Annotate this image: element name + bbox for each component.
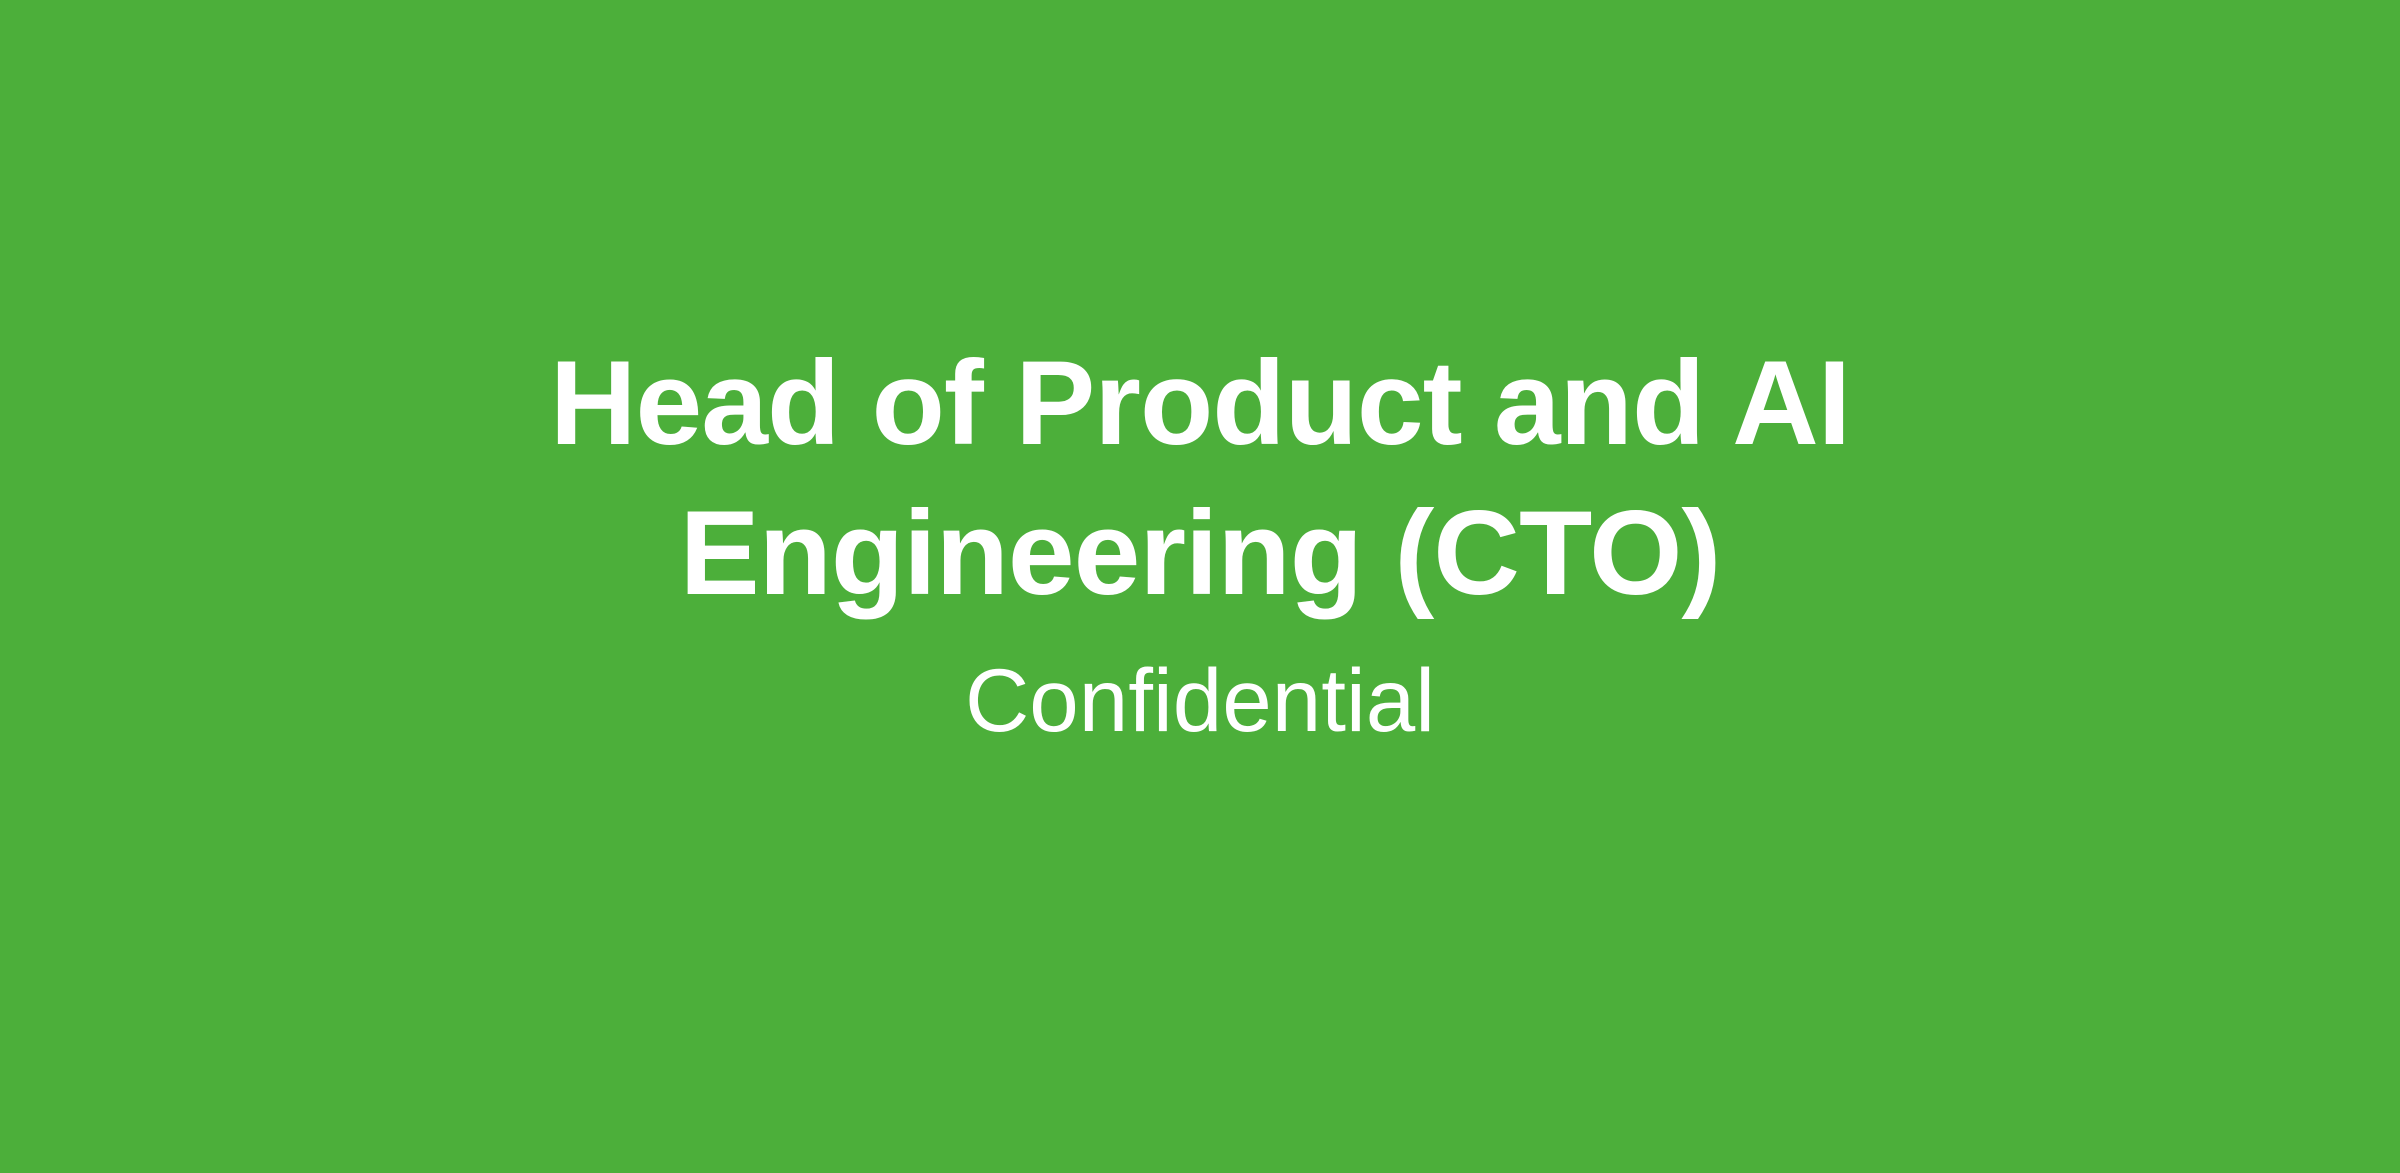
title-card-text-stack: Head of Product and AI Engineering (CTO)… bbox=[490, 328, 1910, 750]
title-card: Head of Product and AI Engineering (CTO)… bbox=[0, 0, 2400, 1173]
confidentiality-label: Confidential bbox=[965, 650, 1435, 750]
page-title: Head of Product and AI Engineering (CTO) bbox=[490, 328, 1910, 628]
